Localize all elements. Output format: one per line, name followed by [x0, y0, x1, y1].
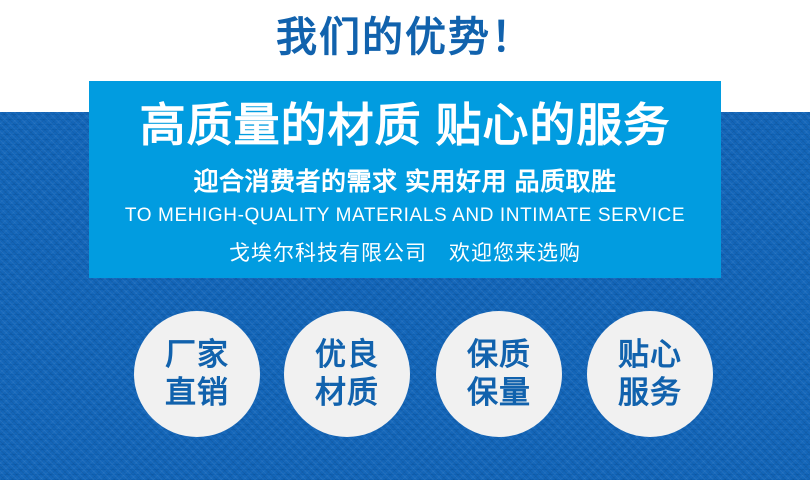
feature-badge-intimate-service: 贴心 服务 — [587, 311, 713, 437]
badge-line-1: 保质 — [467, 336, 531, 374]
panel-sub-heading: 迎合消费者的需求 实用好用 品质取胜 — [89, 165, 721, 199]
feature-badge-factory-direct: 厂家 直销 — [134, 311, 260, 437]
badge-line-2: 材质 — [315, 374, 379, 412]
badge-line-2: 直销 — [165, 374, 229, 412]
badge-line-2: 保量 — [467, 374, 531, 412]
feature-badge-row: 厂家 直销 优良 材质 保质 保量 贴心 服务 — [0, 311, 810, 437]
badge-line-1: 厂家 — [165, 336, 229, 374]
badge-line-1: 优良 — [315, 336, 379, 374]
feature-badge-guaranteed-quantity: 保质 保量 — [436, 311, 562, 437]
feature-badge-quality-material: 优良 材质 — [284, 311, 410, 437]
panel-english-tagline: TO MEHIGH-QUALITY MATERIALS AND INTIMATE… — [89, 203, 721, 229]
page-title: 我们的优势！ — [0, 12, 810, 62]
badge-line-2: 服务 — [618, 374, 682, 412]
badge-line-1: 贴心 — [618, 336, 682, 374]
highlight-panel: 高质量的材质 贴心的服务 迎合消费者的需求 实用好用 品质取胜 TO MEHIG… — [89, 81, 721, 278]
panel-company-line: 戈埃尔科技有限公司 欢迎您来选购 — [89, 239, 721, 269]
advantages-banner: 我们的优势！ 高质量的材质 贴心的服务 迎合消费者的需求 实用好用 品质取胜 T… — [0, 0, 810, 480]
panel-main-heading: 高质量的材质 贴心的服务 — [89, 96, 721, 154]
